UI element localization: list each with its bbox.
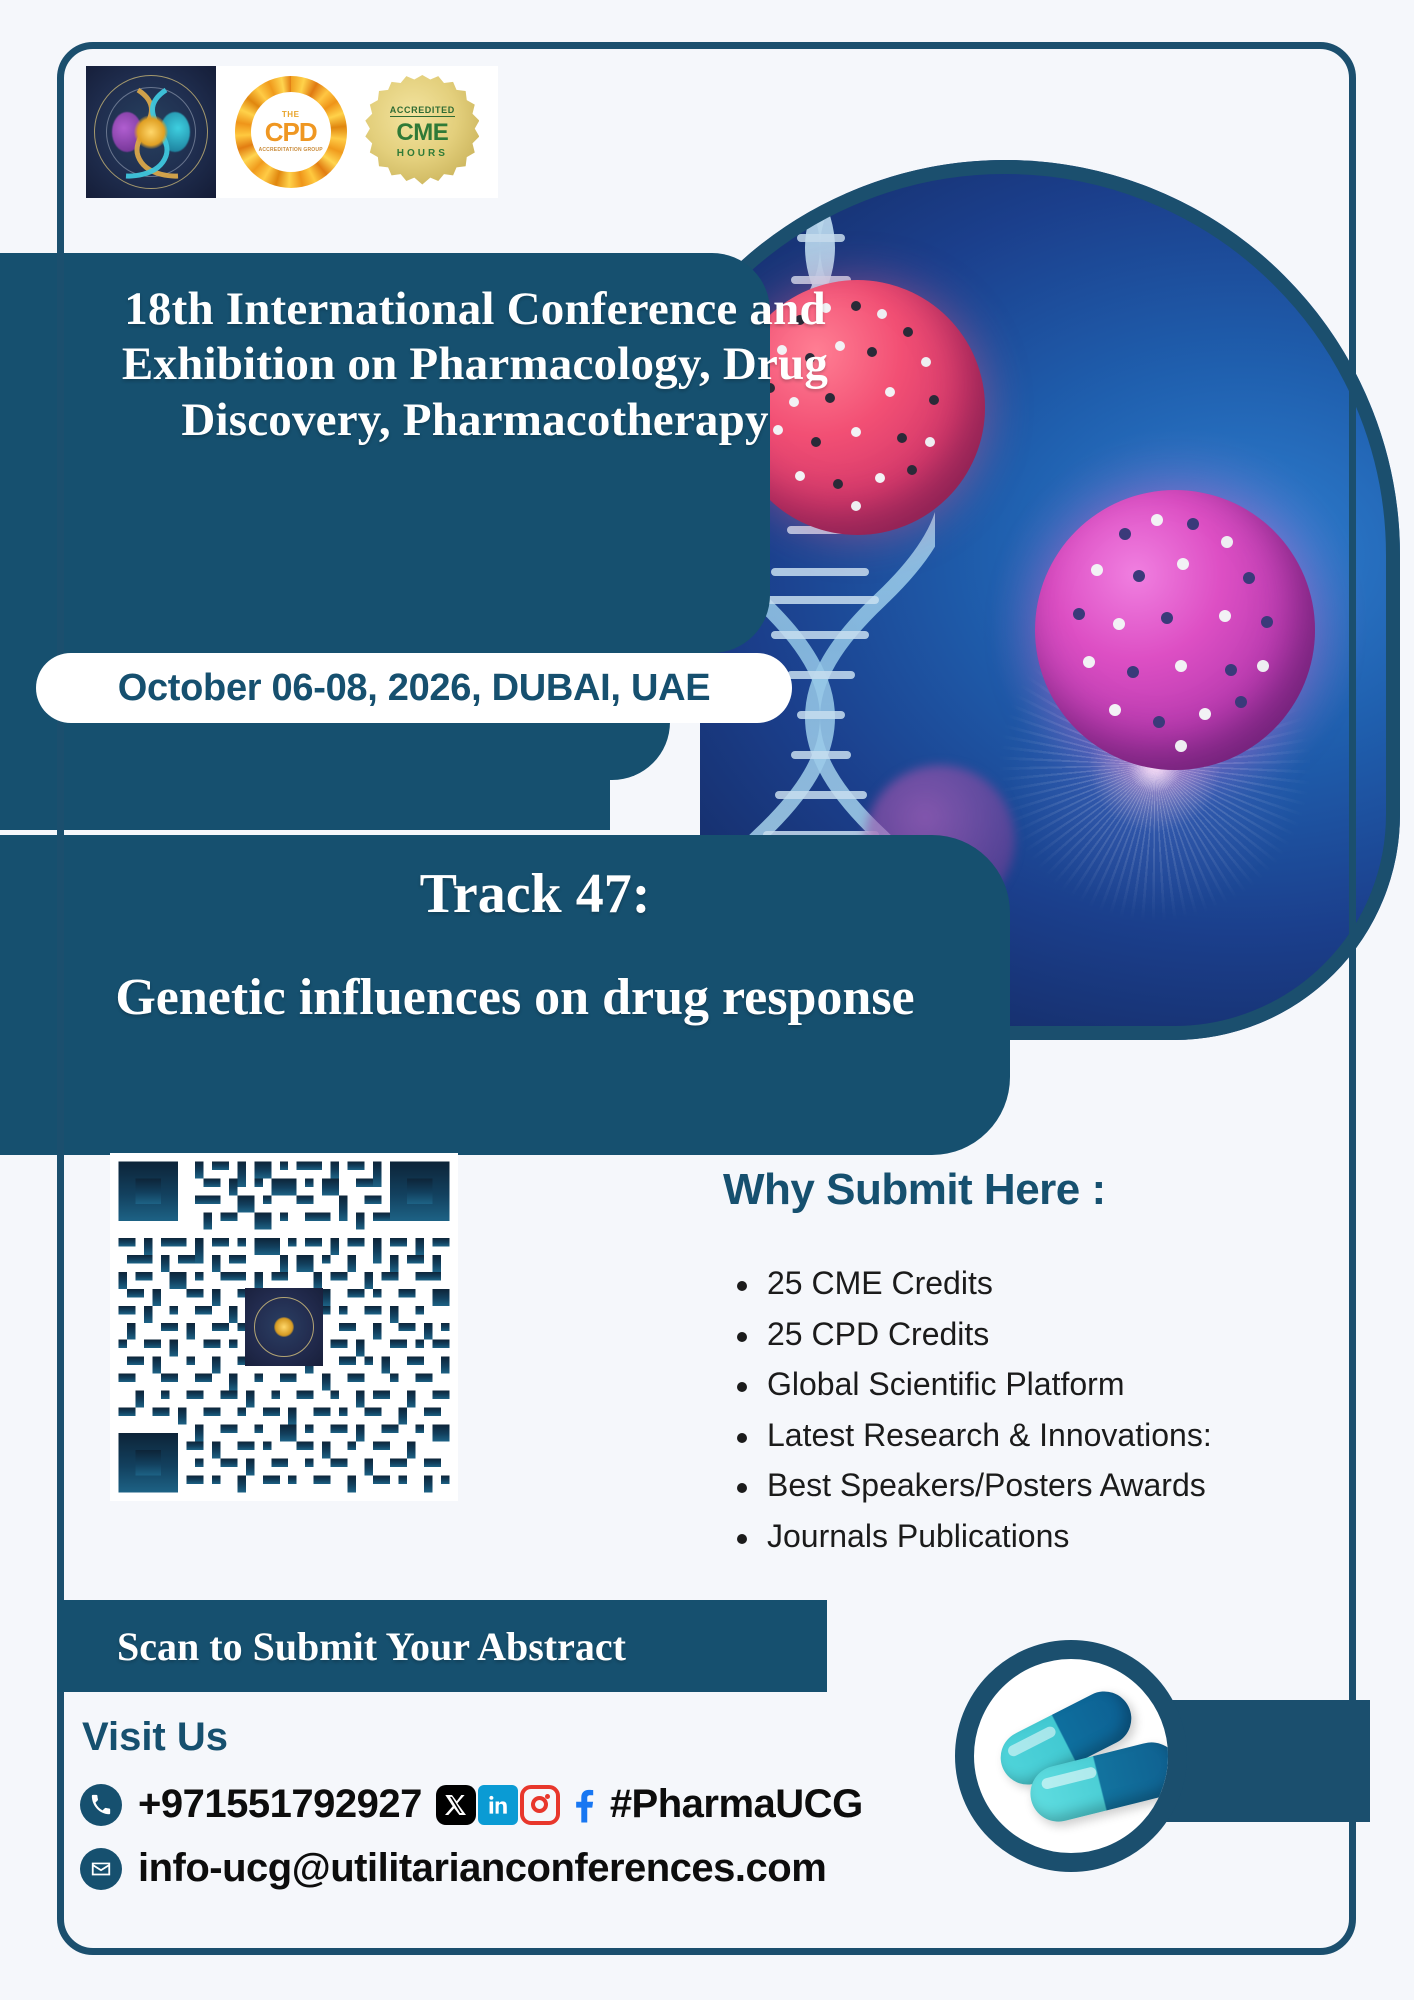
date-venue-pill: October 06-08, 2026, DUBAI, UAE: [36, 653, 792, 723]
cme-label: CME: [396, 121, 448, 145]
social-hashtag: #PharmaUCG: [610, 1782, 863, 1827]
cpd-label: CPD: [265, 119, 317, 145]
instagram-icon[interactable]: [520, 1785, 560, 1825]
accreditation-logo-row: THE CPD ACCREDITATION GROUP ACCREDITED C…: [86, 66, 498, 198]
date-venue-text: October 06-08, 2026, DUBAI, UAE: [118, 667, 711, 710]
phone-icon: [80, 1784, 122, 1826]
why-submit-list: 25 CME Credits 25 CPD Credits Global Sci…: [715, 1258, 1355, 1561]
list-item: Latest Research & Innovations:: [715, 1410, 1355, 1461]
email-address: info-ucg@utilitarianconferences.com: [138, 1846, 826, 1891]
track-number: Track 47:: [90, 862, 980, 926]
track-name: Genetic influences on drug response: [50, 960, 980, 1035]
conference-emblem-icon: [86, 66, 216, 198]
scan-abstract-caption: Scan to Submit Your Abstract: [117, 1623, 626, 1670]
list-item: Global Scientific Platform: [715, 1359, 1355, 1410]
list-item: 25 CPD Credits: [715, 1309, 1355, 1360]
qr-code[interactable]: [110, 1153, 458, 1501]
scan-abstract-bar: Scan to Submit Your Abstract: [57, 1600, 827, 1692]
list-item: Journals Publications: [715, 1511, 1355, 1562]
why-submit-heading: Why Submit Here :: [723, 1165, 1106, 1215]
list-item: 25 CME Credits: [715, 1258, 1355, 1309]
phone-number: +971551792927: [138, 1782, 422, 1827]
linkedin-icon[interactable]: [478, 1785, 518, 1825]
social-links[interactable]: [436, 1785, 604, 1825]
email-contact-row[interactable]: info-ucg@utilitarianconferences.com: [80, 1846, 826, 1891]
cme-badge-icon: ACCREDITED CME HOURS: [365, 75, 479, 189]
facebook-icon[interactable]: [562, 1785, 602, 1825]
x-icon[interactable]: [436, 1785, 476, 1825]
conference-poster: 18th International Conference and Exhibi…: [0, 0, 1414, 2000]
qr-center-logo-icon: [245, 1288, 323, 1366]
list-item: Best Speakers/Posters Awards: [715, 1460, 1355, 1511]
capsule-image: [955, 1640, 1187, 1872]
cme-hours-label: HOURS: [397, 149, 448, 159]
cpd-sub-label: ACCREDITATION GROUP: [259, 148, 323, 153]
email-icon: [80, 1848, 122, 1890]
conference-title: 18th International Conference and Exhibi…: [90, 282, 860, 448]
phone-contact-row[interactable]: +971551792927 #PharmaUCG: [80, 1782, 863, 1827]
cpd-badge-icon: THE CPD ACCREDITATION GROUP: [235, 76, 347, 188]
accreditation-badges: THE CPD ACCREDITATION GROUP ACCREDITED C…: [216, 66, 498, 198]
cme-accredited-label: ACCREDITED: [390, 106, 455, 117]
visit-us-label: Visit Us: [82, 1715, 228, 1760]
